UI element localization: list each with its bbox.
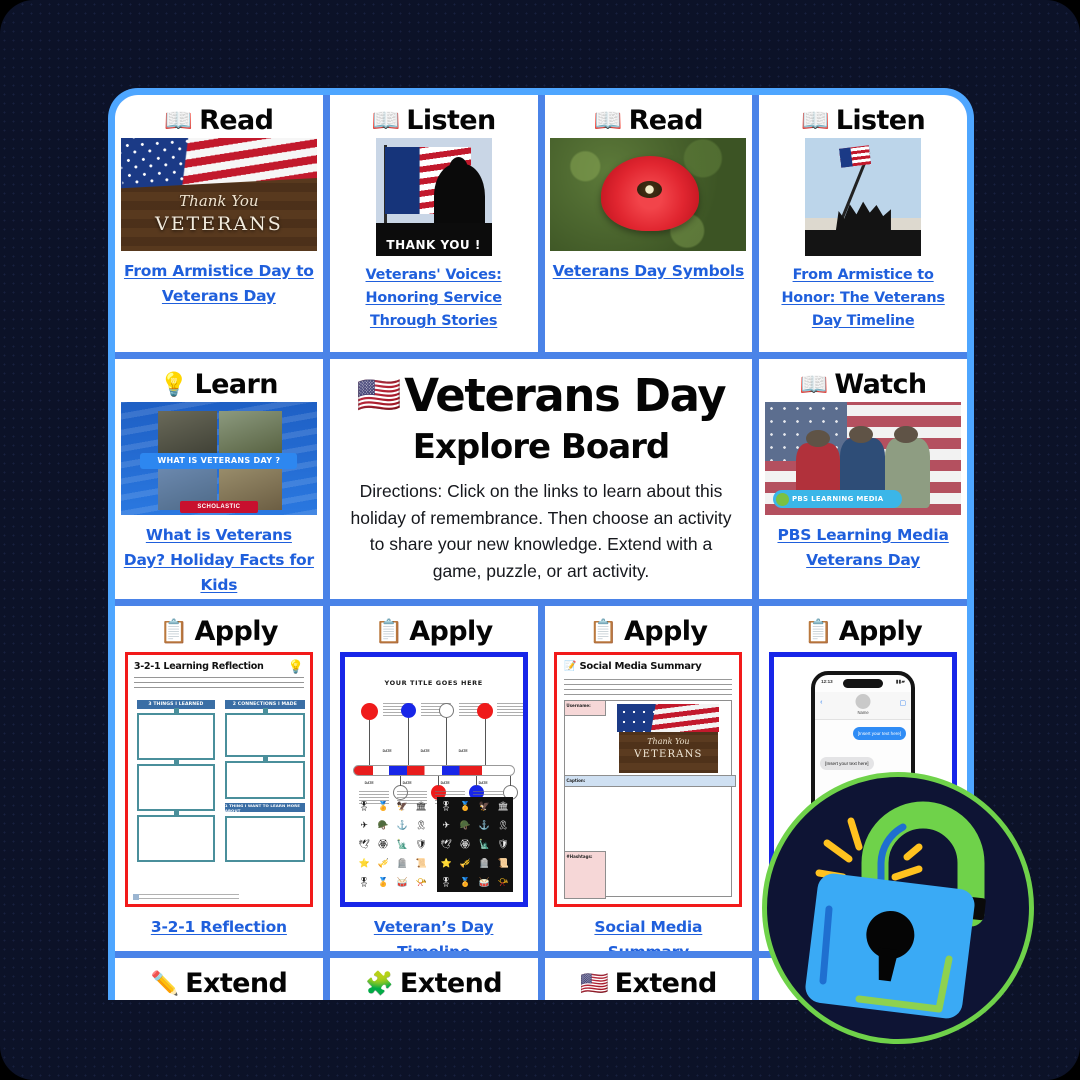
card-apply-reflection[interactable]: 📋 Apply 3-2-1 Learning Reflection 💡 3 TH… <box>115 606 323 951</box>
card-category-label: Extend <box>400 968 502 999</box>
phone-time: 12:13 <box>821 679 833 684</box>
salute-silhouette-image[interactable]: THANK YOU ! <box>376 138 492 256</box>
card-category-label: Extend <box>615 968 717 999</box>
card-category-label: Read <box>629 105 703 136</box>
page-title-text: Veterans Day <box>404 373 725 418</box>
card-header: 📖 Read <box>594 102 703 138</box>
red-poppy-image[interactable] <box>550 138 746 251</box>
card-link[interactable]: Veteran’s Day Timeline <box>336 915 532 951</box>
clipart-grid-dark: 🎖🏅🦅🏛 ✈🪖⚓🎗 🕊🏵🗽🛡 ⭐🎺🪦📜 🎖🏅🥁📯 <box>437 797 513 892</box>
avatar <box>856 694 871 709</box>
card-read-symbols[interactable]: 📖 Read Veterans Day Symbols <box>545 95 753 352</box>
back-chevron-icon[interactable]: ‹ <box>820 699 822 706</box>
lightbulb-icon: 💡 <box>288 659 304 675</box>
card-read-armistice[interactable]: 📖 Read Thank You VETERANS From Armistice… <box>115 95 323 352</box>
chat-bubble-incoming: [Insert your text here] <box>820 757 873 770</box>
worksheet-directions-lines <box>134 677 304 692</box>
thumb-caption-text: THANK YOU ! <box>376 238 492 252</box>
card-header: 📖 Listen <box>372 102 496 138</box>
card-category-label: Listen <box>406 105 495 136</box>
date-label: DATE <box>365 781 374 785</box>
iwo-jima-memorial-image[interactable] <box>805 138 921 256</box>
card-watch-pbs[interactable]: 📖 Watch PBS LEARNING MEDIA PBS Learning … <box>759 359 967 599</box>
card-link[interactable]: From Armistice Day to Veterans Day <box>121 259 317 309</box>
date-label: DATE <box>421 749 430 753</box>
phone-status-icons: ▮▮▰ <box>896 679 905 685</box>
book-bulb-icon: 📖 <box>594 109 623 132</box>
card-category-label: Listen <box>836 105 925 136</box>
date-label: DATE <box>459 749 468 753</box>
card-header: 📋 Apply <box>589 613 707 649</box>
thank-you-veterans-image[interactable]: Thank You VETERANS <box>121 138 317 251</box>
book-bulb-icon: 📖 <box>372 109 401 132</box>
card-apply-timeline[interactable]: 📋 Apply YOUR TITLE GOES HERE DATE DATE <box>330 606 538 951</box>
card-extend-flag[interactable]: 🇺🇸 Extend <box>545 958 753 1000</box>
lightbulb-icon: 💡 <box>160 373 189 396</box>
clipboard-icon: 📋 <box>160 620 189 643</box>
clipboard-icon: 📋 <box>375 620 404 643</box>
book-bulb-icon: 📖 <box>800 373 829 396</box>
card-header: 📖 Listen <box>801 102 925 138</box>
worksheet-col3-header: 1 THING I WANT TO LEARN MORE ABOUT <box>225 803 305 812</box>
card-header: 💡 Learn <box>160 366 278 402</box>
puzzle-icon: 🧩 <box>365 972 394 995</box>
worksheet-title: 3-2-1 Learning Reflection <box>134 661 264 672</box>
card-apply-social[interactable]: 📋 Apply 📝 Social Media Summary Username:… <box>545 606 753 951</box>
page-subtitle: Explore Board <box>413 430 670 464</box>
scholastic-video-image[interactable]: WHAT IS VETERANS DAY ? SCHOLASTIC <box>121 402 317 515</box>
social-media-summary-preview[interactable]: 📝 Social Media Summary Username: Caption… <box>554 652 742 907</box>
page-title: 🇺🇸 Veterans Day <box>357 373 725 418</box>
scholastic-logo: SCHOLASTIC <box>180 501 258 512</box>
card-listen-voices[interactable]: 📖 Listen THANK YOU ! Veterans' Voices: H… <box>330 95 538 352</box>
card-link[interactable]: 3-2-1 Reflection <box>149 915 289 940</box>
pbs-learning-media-image[interactable]: PBS LEARNING MEDIA <box>765 402 961 515</box>
worksheet-footer-credit <box>134 894 240 900</box>
flag-us-icon: 🇺🇸 <box>580 972 609 995</box>
timeline-worksheet-preview[interactable]: YOUR TITLE GOES HERE DATE DATE DATE <box>340 652 528 907</box>
reflection-worksheet-preview[interactable]: 3-2-1 Learning Reflection 💡 3 THINGS I L… <box>125 652 313 907</box>
card-category-label: Apply <box>624 616 707 647</box>
date-label: DATE <box>441 781 450 785</box>
date-label: DATE <box>479 781 488 785</box>
thumb-banner-text: WHAT IS VETERANS DAY ? <box>140 453 297 469</box>
card-header: 📋 Apply <box>160 613 278 649</box>
card-link[interactable]: PBS Learning Media Veterans Day <box>765 523 961 573</box>
card-category-label: Read <box>199 105 273 136</box>
worksheet-title-row: 📝 Social Media Summary <box>564 661 701 672</box>
pencil-icon: ✏️ <box>151 972 180 995</box>
open-padlock-badge[interactable] <box>762 772 1034 1044</box>
row-label-username: Username: <box>564 701 606 710</box>
photo-script-text: Thank You <box>619 737 717 746</box>
chat-bubble-outgoing: [Insert your text here] <box>853 727 906 740</box>
card-category-label: Apply <box>409 616 492 647</box>
card-header: ✏️ Extend <box>151 965 288 1000</box>
worksheet-instructions-lines <box>564 679 732 696</box>
card-header: 📖 Watch <box>800 366 927 402</box>
worksheet-photo: Thank You VETERANS <box>619 707 717 773</box>
book-bulb-icon: 📖 <box>801 109 830 132</box>
card-link[interactable]: What is Veterans Day? Holiday Facts for … <box>121 523 317 597</box>
pbs-tag: PBS LEARNING MEDIA <box>773 490 902 508</box>
card-category-label: Extend <box>185 968 287 999</box>
card-category-label: Apply <box>194 616 277 647</box>
card-header: 📋 Apply <box>375 613 493 649</box>
card-header: 📋 Apply <box>804 613 922 649</box>
video-call-icon[interactable]: ▢ <box>900 699 907 707</box>
board-title-cell: 🇺🇸 Veterans Day Explore Board Directions… <box>330 359 753 599</box>
thumb-script-text: Thank You <box>121 192 317 210</box>
directions-text: Directions: Click on the links to learn … <box>346 478 737 584</box>
row-label-hashtags: #Hashtags: <box>564 852 606 861</box>
card-category-label: Watch <box>834 369 926 400</box>
flag-us-icon: 🇺🇸 <box>357 378 400 414</box>
card-category-label: Learn <box>195 369 278 400</box>
date-label: DATE <box>383 749 392 753</box>
card-extend-art[interactable]: ✏️ Extend <box>115 958 323 1000</box>
date-label: DATE <box>403 781 412 785</box>
card-link[interactable]: Veterans Day Symbols <box>551 259 746 284</box>
card-header: 🇺🇸 Extend <box>580 965 717 1000</box>
card-category-label: Apply <box>839 616 922 647</box>
clipboard-icon: 📋 <box>804 620 833 643</box>
contact-name: Name <box>815 710 911 715</box>
card-learn-scholastic[interactable]: 💡 Learn WHAT IS VETERANS DAY ? SCHOLASTI… <box>115 359 323 599</box>
card-header: 📖 Read <box>164 102 273 138</box>
card-extend-puzzle[interactable]: 🧩 Extend <box>330 958 538 1000</box>
thumb-caps-text: VETERANS <box>121 213 317 235</box>
book-bulb-icon: 📖 <box>164 109 193 132</box>
clipart-grid-light: 🎖🏅🦅🏛 ✈🪖⚓🎗 🕊🏵🗽🛡 ⭐🎺🪦📜 🎖🏅🥁📯 <box>355 797 431 892</box>
pbs-tag-text: PBS LEARNING MEDIA <box>792 495 883 503</box>
page-backdrop: 📖 Read Thank You VETERANS From Armistice… <box>0 0 1080 1080</box>
worksheet-title: YOUR TITLE GOES HERE <box>345 679 523 687</box>
photo-caps-text: VETERANS <box>619 749 717 760</box>
card-header: 🧩 Extend <box>365 965 502 1000</box>
row-label-caption: Caption: <box>564 776 606 785</box>
clipboard-icon: 📋 <box>589 620 618 643</box>
chat-navbar: ‹ ▢ Name <box>815 692 911 720</box>
card-listen-timeline[interactable]: 📖 Listen From Armistice to Honor: The Ve… <box>759 95 967 352</box>
card-link[interactable]: Social Media Summary <box>551 915 747 951</box>
card-link[interactable]: From Armistice to Honor: The Veterans Da… <box>765 264 961 333</box>
phone-notch <box>843 679 883 688</box>
timeline-bar <box>353 765 515 776</box>
worksheet-title: Social Media Summary <box>580 661 702 672</box>
pbs-logo-icon <box>776 493 789 506</box>
card-link[interactable]: Veterans' Voices: Honoring Service Throu… <box>336 264 532 333</box>
memo-icon: 📝 <box>564 661 576 672</box>
